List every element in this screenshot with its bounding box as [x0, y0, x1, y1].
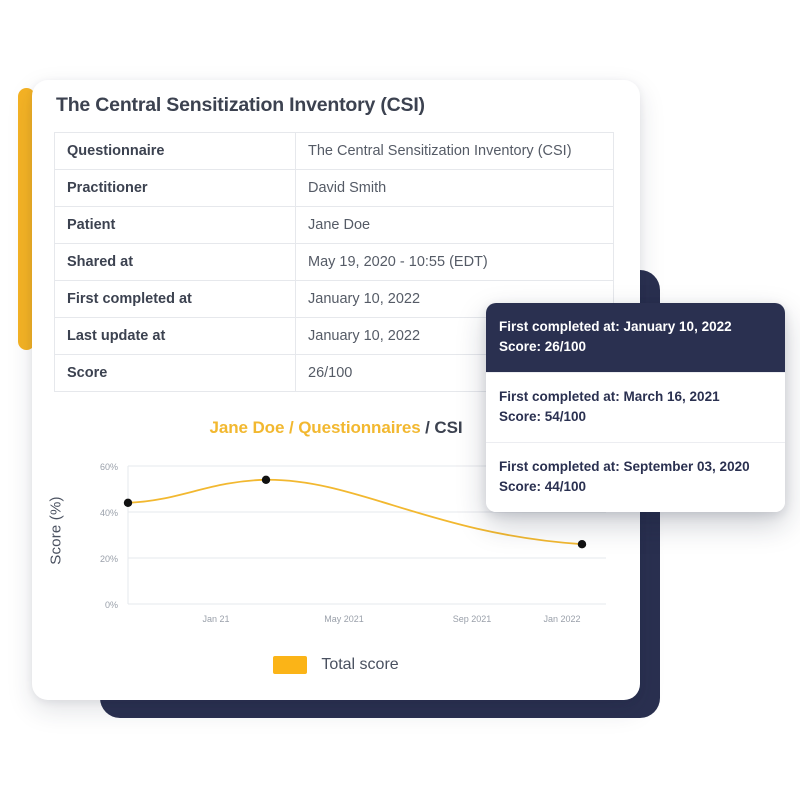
- row-value: David Smith: [296, 170, 614, 207]
- chart-legend: Total score: [32, 656, 640, 674]
- table-row: Patient Jane Doe: [55, 207, 614, 244]
- x-axis-tick-label: May 2021: [324, 614, 364, 624]
- row-label: Questionnaire: [55, 133, 296, 170]
- chart-title-breadcrumb: Jane Doe / Questionnaires: [210, 418, 421, 437]
- table-row: Shared at May 19, 2020 - 10:55 (EDT): [55, 244, 614, 281]
- row-label: Shared at: [55, 244, 296, 281]
- list-item-score: Score: 26/100: [499, 337, 772, 357]
- legend-label-total-score: Total score: [321, 656, 398, 674]
- list-item-score: Score: 44/100: [499, 477, 772, 497]
- data-point-marker[interactable]: [262, 476, 270, 484]
- row-label: Last update at: [55, 318, 296, 355]
- row-value: The Central Sensitization Inventory (CSI…: [296, 133, 614, 170]
- page-title: The Central Sensitization Inventory (CSI…: [56, 94, 425, 117]
- row-value: Jane Doe: [296, 207, 614, 244]
- table-row: Practitioner David Smith: [55, 170, 614, 207]
- list-item-date: First completed at: March 16, 2021: [499, 387, 772, 407]
- x-axis-tick-label: Sep 2021: [453, 614, 492, 624]
- legend-swatch-total-score: [273, 656, 307, 674]
- list-item[interactable]: First completed at: January 10, 2022 Sco…: [486, 303, 785, 372]
- y-axis-tick-label: 60%: [100, 462, 118, 472]
- y-axis-tick-label: 40%: [100, 508, 118, 518]
- data-point-marker[interactable]: [124, 499, 132, 507]
- y-axis-title: Score (%): [48, 471, 65, 591]
- row-label: Practitioner: [55, 170, 296, 207]
- chart-title-suffix: / CSI: [421, 418, 463, 437]
- list-item-date: First completed at: September 03, 2020: [499, 457, 772, 477]
- list-item-date: First completed at: January 10, 2022: [499, 317, 772, 337]
- row-label: Score: [55, 355, 296, 392]
- row-value: May 19, 2020 - 10:55 (EDT): [296, 244, 614, 281]
- screenshot-root: The Central Sensitization Inventory (CSI…: [0, 0, 800, 800]
- x-axis-tick-label: Jan 21: [202, 614, 229, 624]
- list-item[interactable]: First completed at: September 03, 2020 S…: [486, 442, 785, 512]
- completion-history-panel[interactable]: First completed at: January 10, 2022 Sco…: [486, 303, 785, 512]
- list-item-score: Score: 54/100: [499, 407, 772, 427]
- list-item[interactable]: First completed at: March 16, 2021 Score…: [486, 372, 785, 442]
- table-row: Questionnaire The Central Sensitization …: [55, 133, 614, 170]
- x-axis-tick-label: Jan 2022: [543, 614, 580, 624]
- y-axis-tick-label: 20%: [100, 554, 118, 564]
- data-point-marker[interactable]: [578, 540, 586, 548]
- row-label: Patient: [55, 207, 296, 244]
- y-axis-tick-label: 0%: [105, 600, 118, 610]
- row-label: First completed at: [55, 281, 296, 318]
